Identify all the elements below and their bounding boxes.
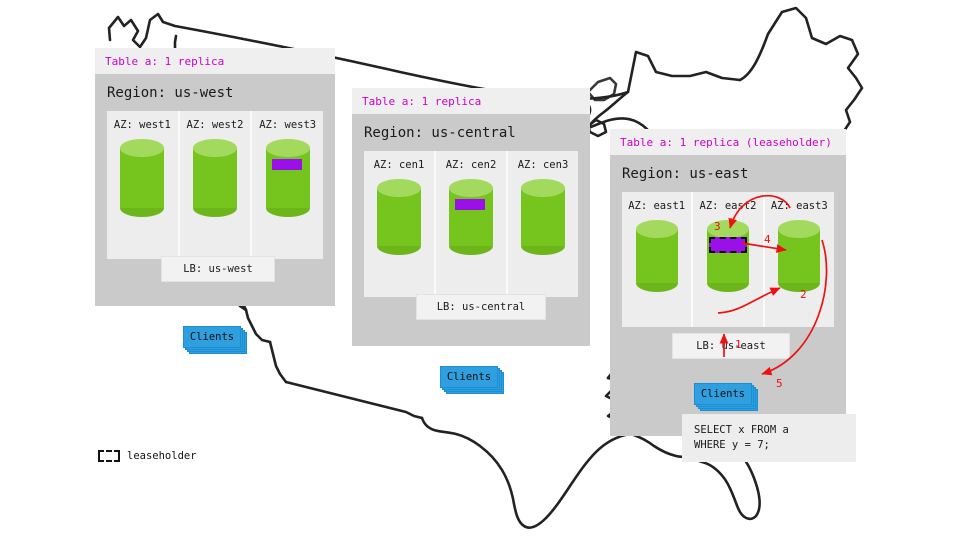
leaseholder-block-east2 [709, 237, 747, 253]
leaseholder-block-cen2 [455, 199, 485, 210]
legend: leaseholder [98, 450, 197, 462]
region-panel-us-west: Table a: 1 replica Region: us-west AZ: w… [95, 48, 335, 306]
az-label-cen3: AZ: cen3 [508, 159, 578, 171]
region-body-us-central: Region: us-central AZ: cen1 AZ: cen2 [352, 114, 590, 346]
cylinder-west3[interactable] [266, 139, 310, 217]
clients-label-us-central: Clients [440, 366, 498, 388]
az-label-east1: AZ: east1 [622, 200, 691, 212]
az-cell-east3[interactable]: AZ: east3 [765, 192, 834, 327]
region-title-us-east: Region: us-east [610, 155, 846, 192]
region-header-us-central: Table a: 1 replica [352, 88, 590, 114]
region-title-us-west: Region: us-west [95, 74, 335, 111]
clients-label-us-west: Clients [183, 326, 241, 348]
cylinder-west1[interactable] [120, 139, 164, 217]
region-body-us-west: Region: us-west AZ: west1 AZ: west2 [95, 74, 335, 306]
cylinder-cen2[interactable] [449, 179, 493, 255]
cylinder-cen1[interactable] [377, 179, 421, 255]
az-cell-west3[interactable]: AZ: west3 [252, 111, 323, 259]
clients-us-west[interactable]: Clients [183, 326, 245, 352]
az-cell-east2[interactable]: AZ: east2 [693, 192, 764, 327]
region-body-us-east: Region: us-east AZ: east1 AZ: east2 [610, 155, 846, 436]
region-panel-us-east: Table a: 1 replica (leaseholder) Region:… [610, 129, 846, 436]
az-label-cen2: AZ: cen2 [436, 159, 506, 171]
leaseholder-block-west3 [272, 159, 302, 170]
az-row-us-east: AZ: east1 AZ: east2 [622, 192, 834, 327]
clients-us-central[interactable]: Clients [440, 366, 502, 392]
cylinder-east3[interactable] [778, 220, 820, 292]
az-row-us-west: AZ: west1 AZ: west2 [107, 111, 323, 259]
az-row-us-central: AZ: cen1 AZ: cen2 [364, 151, 578, 297]
az-label-west3: AZ: west3 [252, 119, 323, 131]
load-balancer-us-east[interactable]: LB: us-east [672, 333, 790, 359]
cylinder-east1[interactable] [636, 220, 678, 292]
cylinder-cen3[interactable] [521, 179, 565, 255]
region-panel-us-central: Table a: 1 replica Region: us-central AZ… [352, 88, 590, 346]
clients-us-east[interactable]: Clients [694, 383, 758, 409]
leaseholder-swatch-icon [98, 450, 120, 462]
az-cell-cen2[interactable]: AZ: cen2 [436, 151, 508, 297]
cylinder-west2[interactable] [193, 139, 237, 217]
az-label-east2: AZ: east2 [693, 200, 762, 212]
cylinder-east2[interactable] [707, 220, 749, 292]
region-title-us-central: Region: us-central [352, 114, 590, 151]
load-balancer-us-west[interactable]: LB: us-west [161, 256, 275, 282]
region-header-us-west: Table a: 1 replica [95, 48, 335, 74]
az-cell-cen1[interactable]: AZ: cen1 [364, 151, 436, 297]
az-label-west1: AZ: west1 [107, 119, 178, 131]
az-label-west2: AZ: west2 [180, 119, 251, 131]
az-cell-cen3[interactable]: AZ: cen3 [508, 151, 578, 297]
az-label-cen1: AZ: cen1 [364, 159, 434, 171]
load-balancer-us-central[interactable]: LB: us-central [416, 294, 546, 320]
clients-label-us-east: Clients [694, 383, 752, 405]
az-cell-west1[interactable]: AZ: west1 [107, 111, 180, 259]
az-label-east3: AZ: east3 [765, 200, 834, 212]
legend-label: leaseholder [127, 450, 197, 462]
region-header-us-east: Table a: 1 replica (leaseholder) [610, 129, 846, 155]
sql-query-box: SELECT x FROM a WHERE y = 7; [682, 414, 856, 462]
az-cell-east1[interactable]: AZ: east1 [622, 192, 693, 327]
diagram-canvas: Table a: 1 replica Region: us-west AZ: w… [0, 0, 960, 540]
az-cell-west2[interactable]: AZ: west2 [180, 111, 253, 259]
